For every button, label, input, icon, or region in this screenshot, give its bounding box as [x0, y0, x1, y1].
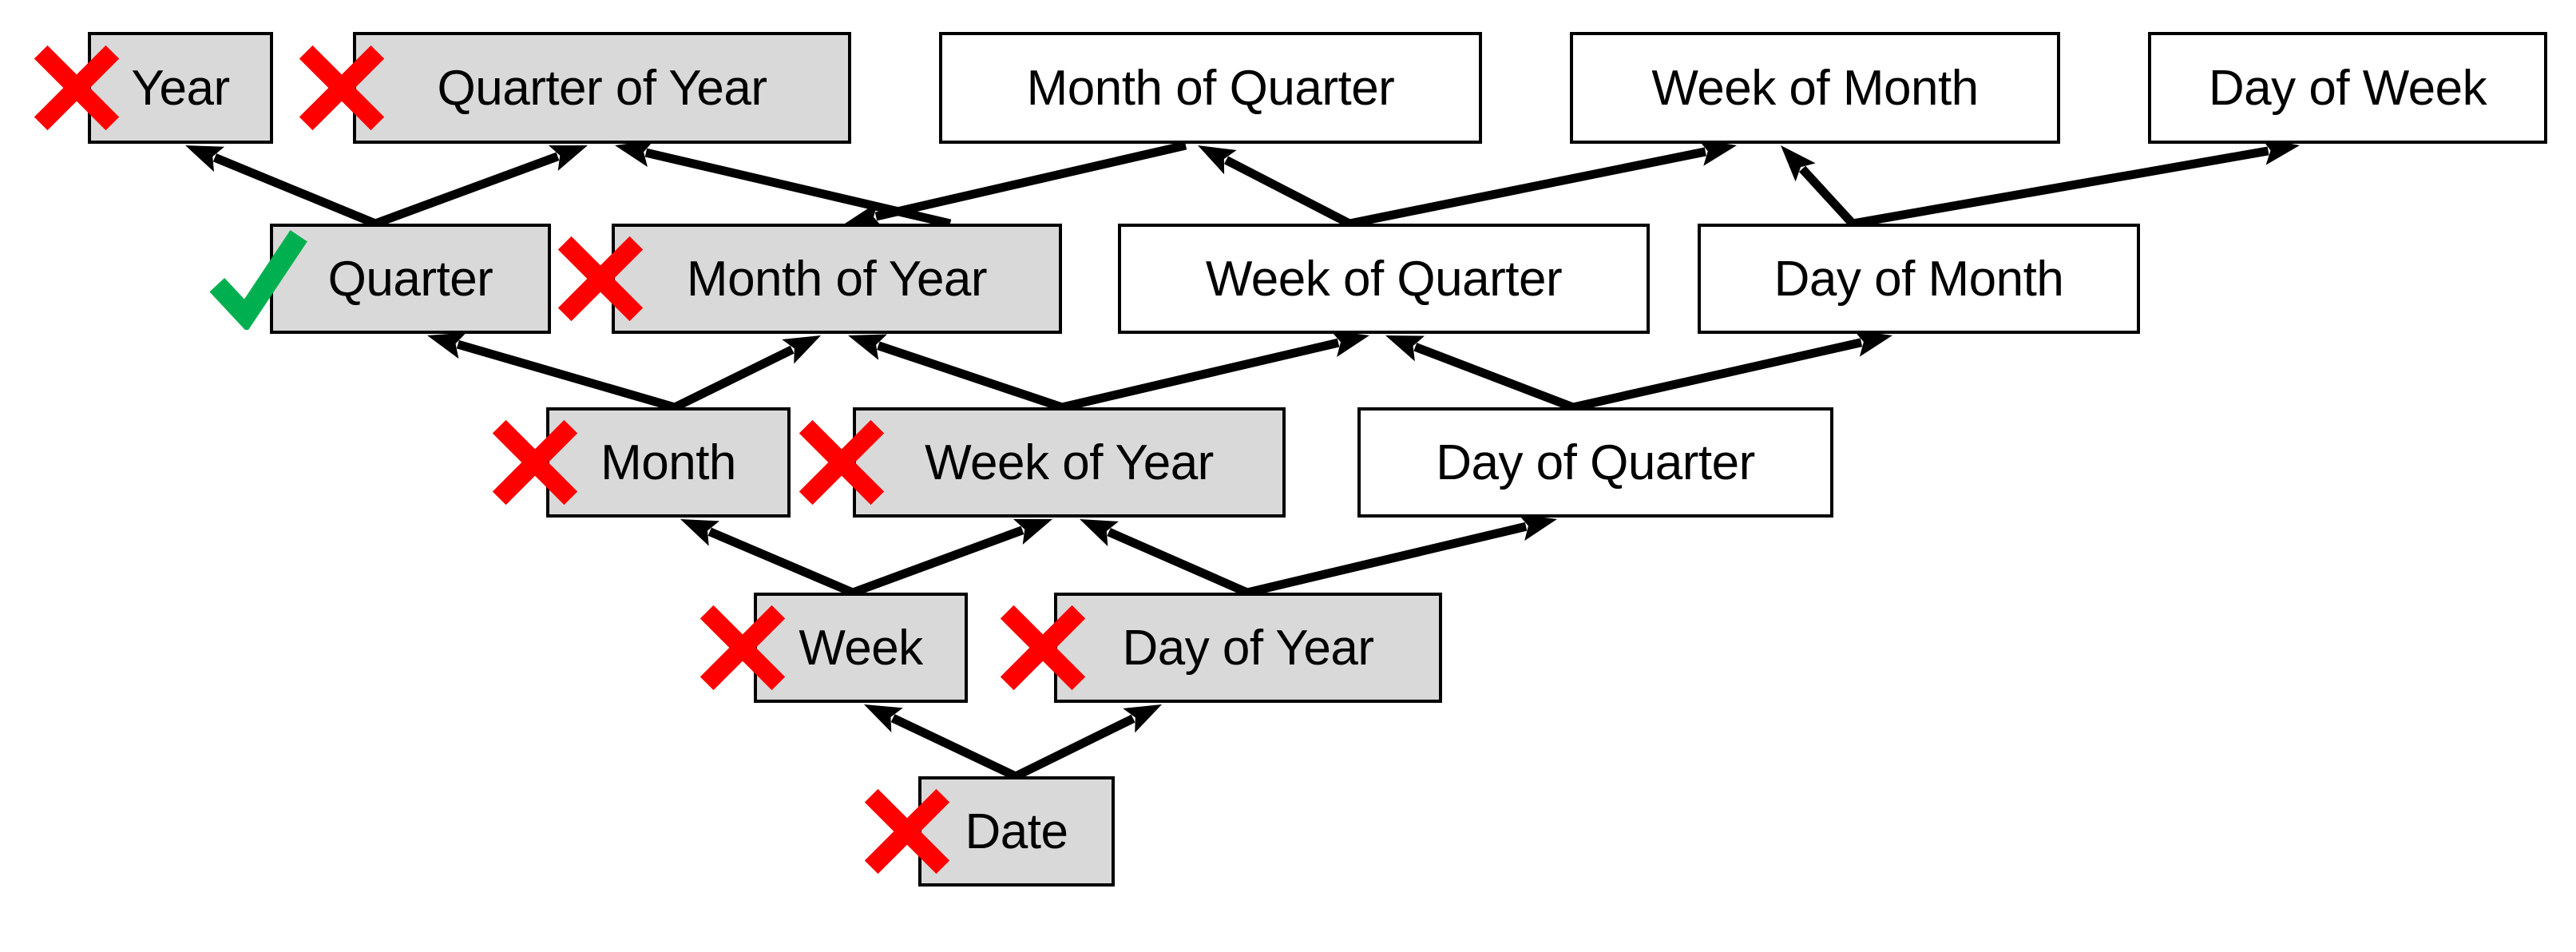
node-quarter_of_year[interactable]: Quarter of Year [353, 32, 851, 144]
edge-day_of_quarter-to-week_of_quarter [1385, 335, 1573, 407]
edge-quarter-to-year [185, 145, 375, 224]
node-day_of_quarter[interactable]: Day of Quarter [1357, 407, 1833, 518]
node-month[interactable]: Month [546, 407, 791, 518]
node-label: Week of Quarter [1206, 251, 1562, 307]
node-week[interactable]: Week [754, 593, 968, 703]
node-day_of_week[interactable]: Day of Week [2148, 32, 2547, 144]
edge-week_of_year-to-week_of_quarter [1062, 331, 1369, 407]
node-quarter[interactable]: Quarter [270, 224, 551, 334]
edge-week_of_year-to-month_of_year [848, 335, 1062, 407]
edge-day_of_month-to-day_of_week [1853, 138, 2300, 224]
edge-month-to-quarter [427, 332, 675, 407]
edge-day_of_year-to-week_of_year [1080, 519, 1247, 593]
edge-day_of_month-to-week_of_month [1781, 145, 1853, 224]
node-day_of_month[interactable]: Day of Month [1698, 224, 2140, 334]
edge-date-to-day_of_year [1016, 704, 1162, 776]
node-label: Year [131, 60, 229, 117]
node-day_of_year[interactable]: Day of Year [1054, 593, 1442, 703]
node-label: Month of Quarter [1027, 60, 1395, 117]
node-year[interactable]: Year [88, 32, 273, 144]
node-label: Month of Year [687, 251, 987, 307]
node-date[interactable]: Date [918, 776, 1115, 887]
node-week_of_year[interactable]: Week of Year [853, 407, 1286, 518]
edge-date-to-week [864, 704, 1016, 776]
edge-week-to-week_of_year [853, 519, 1052, 593]
node-label: Quarter [328, 251, 493, 307]
node-label: Day of Quarter [1436, 434, 1755, 491]
node-label: Month [600, 434, 736, 491]
node-label: Day of Year [1122, 620, 1373, 676]
node-month_of_year[interactable]: Month of Year [612, 224, 1062, 334]
node-week_of_month[interactable]: Week of Month [1570, 32, 2060, 144]
node-week_of_quarter[interactable]: Week of Quarter [1118, 224, 1650, 334]
node-label: Day of Month [1774, 251, 2064, 307]
node-month_of_quarter[interactable]: Month of Quarter [939, 32, 1482, 144]
node-label: Week of Year [925, 434, 1214, 491]
edge-month_of_quarter-to-month_of_year [845, 145, 1186, 228]
edge-day_of_year-to-day_of_quarter [1247, 514, 1557, 593]
edge-day_of_quarter-to-day_of_month [1573, 331, 1892, 407]
diagram-canvas: YearQuarter of YearMonth of QuarterWeek … [0, 0, 2576, 952]
node-label: Week [799, 620, 922, 676]
edge-week_of_quarter-to-week_of_month [1349, 139, 1737, 224]
edge-quarter-to-quarter_of_year [375, 145, 588, 224]
edge-week_of_quarter-to-month_of_quarter [1198, 145, 1349, 224]
node-label: Week of Month [1651, 60, 1978, 117]
edge-month-to-month_of_year [675, 335, 821, 407]
node-label: Day of Week [2209, 60, 2487, 117]
edge-week-to-month [680, 519, 853, 593]
node-label: Quarter of Year [438, 60, 767, 117]
node-label: Date [965, 803, 1068, 860]
